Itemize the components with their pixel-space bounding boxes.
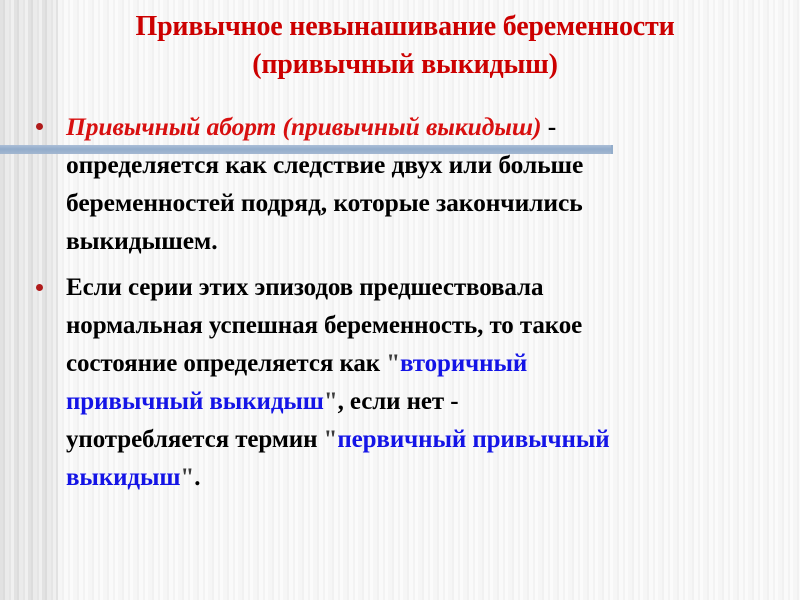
paragraph-2: Если серии этих эпизодов предшествовала … xyxy=(66,269,780,497)
bullet-dot-icon xyxy=(36,123,43,130)
text-line: определяется как следствие двух или боль… xyxy=(66,146,780,184)
term-highlight: выкидыш xyxy=(66,464,180,491)
quote-mark: " xyxy=(180,464,194,491)
paragraph-1: Привычный аборт (привычный выкидыш) - оп… xyxy=(66,108,780,260)
text-run: определяется как следствие двух или боль… xyxy=(66,150,583,179)
emphasis-term: Привычный аборт (привычный выкидыш) xyxy=(66,112,541,141)
text-run: . xyxy=(194,464,200,491)
text-line: выкидыш". xyxy=(66,459,780,497)
page-title: Привычное невынашивание беременности (пр… xyxy=(60,8,750,84)
text-line: употребляется термин "первичный привычны… xyxy=(66,421,780,459)
text-run: состояние определяется как xyxy=(66,350,386,377)
title-line-2: (привычный выкидыш) xyxy=(60,46,750,84)
text-run: - xyxy=(541,112,556,141)
text-run: выкидышем. xyxy=(66,226,217,255)
body-content: Привычный аборт (привычный выкидыш) - оп… xyxy=(28,108,780,497)
text-line: нормальная успешная беременность, то так… xyxy=(66,307,780,345)
quote-mark: " xyxy=(386,350,400,377)
text-line: состояние определяется как "вторичный xyxy=(66,345,780,383)
term-highlight: вторичный xyxy=(400,350,527,377)
text-run: , если нет - xyxy=(338,388,459,415)
title-line-1: Привычное невынашивание беременности xyxy=(60,8,750,46)
text-line: Если серии этих эпизодов предшествовала xyxy=(66,269,780,307)
text-line: Привычный аборт (привычный выкидыш) - xyxy=(66,108,780,146)
quote-mark: " xyxy=(324,426,338,453)
text-line: беременностей подряд, которые закончилис… xyxy=(66,184,780,222)
text-line: привычный выкидыш", если нет - xyxy=(66,383,780,421)
text-run: употребляется термин xyxy=(66,426,324,453)
term-highlight: первичный привычный xyxy=(337,426,609,453)
list-item: Привычный аборт (привычный выкидыш) - оп… xyxy=(28,108,780,260)
text-run: беременностей подряд, которые закончилис… xyxy=(66,188,583,217)
text-line: выкидышем. xyxy=(66,222,780,260)
quote-mark: " xyxy=(324,388,338,415)
slide-canvas: Привычное невынашивание беременности (пр… xyxy=(0,0,800,600)
text-run: Если серии этих эпизодов предшествовала xyxy=(66,274,543,301)
bullet-dot-icon xyxy=(36,284,43,291)
list-item: Если серии этих эпизодов предшествовала … xyxy=(28,269,780,497)
text-run: нормальная успешная беременность, то так… xyxy=(66,312,582,339)
term-highlight: привычный выкидыш xyxy=(66,388,324,415)
